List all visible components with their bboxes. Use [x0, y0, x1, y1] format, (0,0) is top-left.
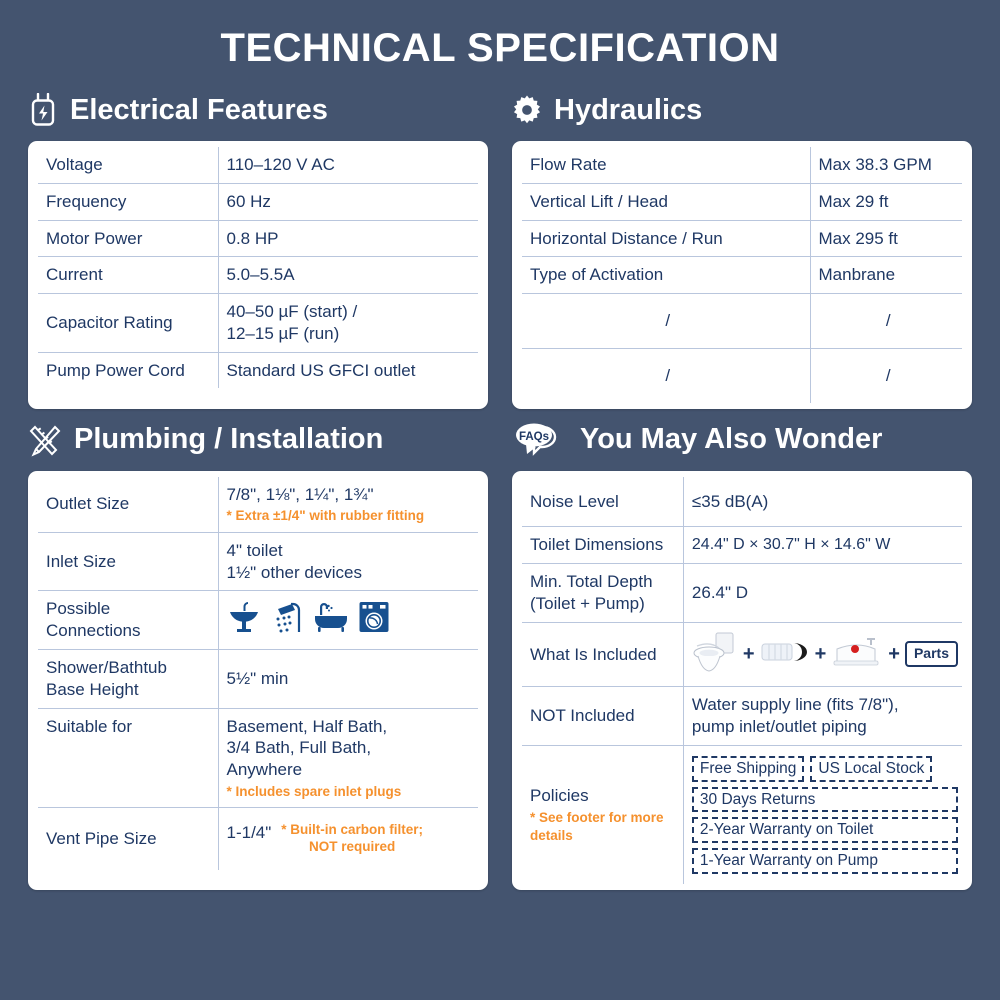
row-value: Water supply line (fits 7/8"), pump inle…	[683, 687, 962, 746]
row-label: Toilet Dimensions	[522, 527, 683, 564]
row-value: /	[810, 294, 962, 349]
table-faq: Noise Level ≤35 dB(A) Toilet Dimensions …	[522, 477, 962, 885]
sink-icon	[227, 600, 261, 640]
row-label: Possible Connections	[38, 591, 218, 650]
table-row: Inlet Size 4" toilet 1½" other devices	[38, 532, 478, 591]
section-title-faq: You May Also Wonder	[580, 423, 882, 456]
policy-tag: 2-Year Warranty on Toilet	[692, 817, 958, 843]
macerator-pump-icon	[831, 635, 883, 675]
included-items: + +	[692, 630, 958, 680]
tables-row-bottom: Outlet Size 7/8", 1⅛", 1¼", 1¾" * Extra …	[28, 471, 972, 891]
policy-tag: 1-Year Warranty on Pump	[692, 848, 958, 874]
gear-icon	[512, 95, 542, 125]
row-value-cell: Free Shipping US Local Stock 30 Days Ret…	[683, 745, 962, 884]
row-label: Pump Power Cord	[38, 352, 218, 388]
table-row: Current 5.0–5.5A	[38, 257, 478, 294]
row-note: * See footer for more details	[530, 809, 679, 844]
row-value: Max 38.3 GPM	[810, 147, 962, 183]
row-label: Noise Level	[522, 477, 683, 527]
row-value: 26.4" D	[683, 564, 962, 623]
table-row: Vertical Lift / Head Max 29 ft	[522, 183, 962, 220]
row-value: Manbrane	[810, 257, 962, 294]
row-value: /	[810, 348, 962, 402]
row-value-cell: 7/8", 1⅛", 1¼", 1¾" * Extra ±1/4" with r…	[218, 477, 478, 533]
table-row: Pump Power Cord Standard US GFCI outlet	[38, 352, 478, 388]
section-title-plumbing: Plumbing / Installation	[74, 423, 383, 456]
faqs-speech-bubble-icon: FAQs	[512, 421, 568, 459]
table-row: Suitable for Basement, Half Bath, 3/4 Ba…	[38, 708, 478, 808]
section-header-hydraulics: Hydraulics	[512, 79, 972, 141]
plus-sign: +	[888, 642, 900, 668]
policy-tag: 30 Days Returns	[692, 787, 958, 813]
table-row: Noise Level ≤35 dB(A)	[522, 477, 962, 527]
section-title-electrical: Electrical Features	[70, 94, 328, 127]
row-value: 110–120 V AC	[218, 147, 478, 183]
row-value-cell: 1-1/4" * Built-in carbon filter; NOT req…	[218, 808, 478, 870]
row-label: Suitable for	[38, 708, 218, 808]
row-label: What Is Included	[522, 622, 683, 687]
table-row: Toilet Dimensions 24.4" D × 30.7" H × 14…	[522, 527, 962, 564]
table-row: Min. Total Depth (Toilet + Pump) 26.4" D	[522, 564, 962, 623]
row-value-cell: + +	[683, 622, 962, 687]
row-label-cell: Policies * See footer for more details	[522, 745, 683, 884]
connection-icons	[227, 598, 475, 642]
panel-plumbing: Outlet Size 7/8", 1⅛", 1¼", 1¾" * Extra …	[28, 471, 488, 891]
connector-pipe-icon	[760, 639, 810, 671]
row-value: ≤35 dB(A)	[683, 477, 962, 527]
table-row: Vent Pipe Size 1-1/4" * Built-in carbon …	[38, 808, 478, 870]
row-value: 24.4" D × 30.7" H × 14.6" W	[683, 527, 962, 564]
power-plug-icon	[28, 93, 58, 127]
policy-tag: US Local Stock	[810, 756, 932, 782]
table-row: Capacitor Rating 40–50 µF (start) / 12–1…	[38, 294, 478, 353]
row-label: Frequency	[38, 183, 218, 220]
table-hydraulics: Flow Rate Max 38.3 GPM Vertical Lift / H…	[522, 147, 962, 403]
section-header-plumbing: Plumbing / Installation	[28, 409, 488, 471]
page-title: TECHNICAL SPECIFICATION	[28, 0, 972, 79]
washing-machine-icon	[358, 600, 390, 640]
row-label: Min. Total Depth (Toilet + Pump)	[522, 564, 683, 623]
row-label: Vertical Lift / Head	[522, 183, 810, 220]
row-value: 5½" min	[218, 650, 478, 709]
table-row: Possible Connections	[38, 591, 478, 650]
plus-sign: +	[743, 642, 755, 668]
policy-tags: Free Shipping US Local Stock 30 Days Ret…	[692, 753, 958, 877]
panel-electrical: Voltage 110–120 V AC Frequency 60 Hz Mot…	[28, 141, 488, 409]
table-row: Outlet Size 7/8", 1⅛", 1¼", 1¾" * Extra …	[38, 477, 478, 533]
panel-faq: Noise Level ≤35 dB(A) Toilet Dimensions …	[512, 471, 972, 891]
row-label: Shower/Bathtub Base Height	[38, 650, 218, 709]
row-value-cell: Basement, Half Bath, 3/4 Bath, Full Bath…	[218, 708, 478, 808]
shower-icon	[270, 600, 304, 640]
row-value: 5.0–5.5A	[218, 257, 478, 294]
parts-badge: Parts	[905, 641, 958, 667]
row-value: Basement, Half Bath, 3/4 Bath, Full Bath…	[227, 717, 388, 780]
table-row: Horizontal Distance / Run Max 295 ft	[522, 220, 962, 257]
row-label: Horizontal Distance / Run	[522, 220, 810, 257]
table-row: Flow Rate Max 38.3 GPM	[522, 147, 962, 183]
table-row: Shower/Bathtub Base Height 5½" min	[38, 650, 478, 709]
row-note: * Includes spare inlet plugs	[227, 783, 475, 801]
table-row: / /	[522, 348, 962, 402]
section-title-hydraulics: Hydraulics	[554, 94, 702, 127]
ruler-pencil-icon	[28, 423, 62, 457]
row-label: Current	[38, 257, 218, 294]
tables-row-top: Voltage 110–120 V AC Frequency 60 Hz Mot…	[28, 141, 972, 409]
row-label: Type of Activation	[522, 257, 810, 294]
row-label: Vent Pipe Size	[38, 808, 218, 870]
row-label: /	[522, 294, 810, 349]
plus-sign: +	[815, 642, 827, 668]
panel-hydraulics: Flow Rate Max 38.3 GPM Vertical Lift / H…	[512, 141, 972, 409]
svg-text:FAQs: FAQs	[519, 431, 549, 443]
table-row: Policies * See footer for more details F…	[522, 745, 962, 884]
table-row: What Is Included	[522, 622, 962, 687]
section-header-faq: FAQs You May Also Wonder	[512, 409, 972, 471]
row-value-cell	[218, 591, 478, 650]
row-value: 4" toilet 1½" other devices	[218, 532, 478, 591]
row-label: Inlet Size	[38, 532, 218, 591]
row-value: 7/8", 1⅛", 1¼", 1¾"	[227, 485, 374, 504]
row-label: Outlet Size	[38, 477, 218, 533]
row-label: Motor Power	[38, 220, 218, 257]
section-header-electrical: Electrical Features	[28, 79, 488, 141]
row-value: 60 Hz	[218, 183, 478, 220]
section-headings-row-top: Electrical Features Hydraulics	[28, 79, 972, 141]
row-value: Standard US GFCI outlet	[218, 352, 478, 388]
row-value: Max 29 ft	[810, 183, 962, 220]
section-headings-row-bottom: Plumbing / Installation FAQs You May Als…	[28, 409, 972, 471]
row-value: 0.8 HP	[218, 220, 478, 257]
row-label: NOT Included	[522, 687, 683, 746]
table-row: Frequency 60 Hz	[38, 183, 478, 220]
row-label: Policies	[530, 785, 679, 807]
row-label: Capacitor Rating	[38, 294, 218, 353]
row-label: Flow Rate	[522, 147, 810, 183]
row-value: 40–50 µF (start) / 12–15 µF (run)	[218, 294, 478, 353]
policy-tag: Free Shipping	[692, 756, 805, 782]
bathtub-icon	[313, 600, 349, 640]
table-row: / /	[522, 294, 962, 349]
table-plumbing: Outlet Size 7/8", 1⅛", 1¼", 1¾" * Extra …	[38, 477, 478, 871]
row-label: /	[522, 348, 810, 402]
table-row: Voltage 110–120 V AC	[38, 147, 478, 183]
row-note: * Extra ±1/4" with rubber fitting	[227, 507, 475, 525]
row-label: Voltage	[38, 147, 218, 183]
table-row: Motor Power 0.8 HP	[38, 220, 478, 257]
technical-specification-page: TECHNICAL SPECIFICATION Electrical Featu…	[0, 0, 1000, 1000]
table-row: NOT Included Water supply line (fits 7/8…	[522, 687, 962, 746]
row-value: Max 295 ft	[810, 220, 962, 257]
table-row: Type of Activation Manbrane	[522, 257, 962, 294]
toilet-icon	[692, 630, 738, 680]
table-electrical: Voltage 110–120 V AC Frequency 60 Hz Mot…	[38, 147, 478, 388]
row-value: 1-1/4"	[227, 822, 272, 844]
row-note: * Built-in carbon filter; NOT required	[281, 822, 423, 856]
